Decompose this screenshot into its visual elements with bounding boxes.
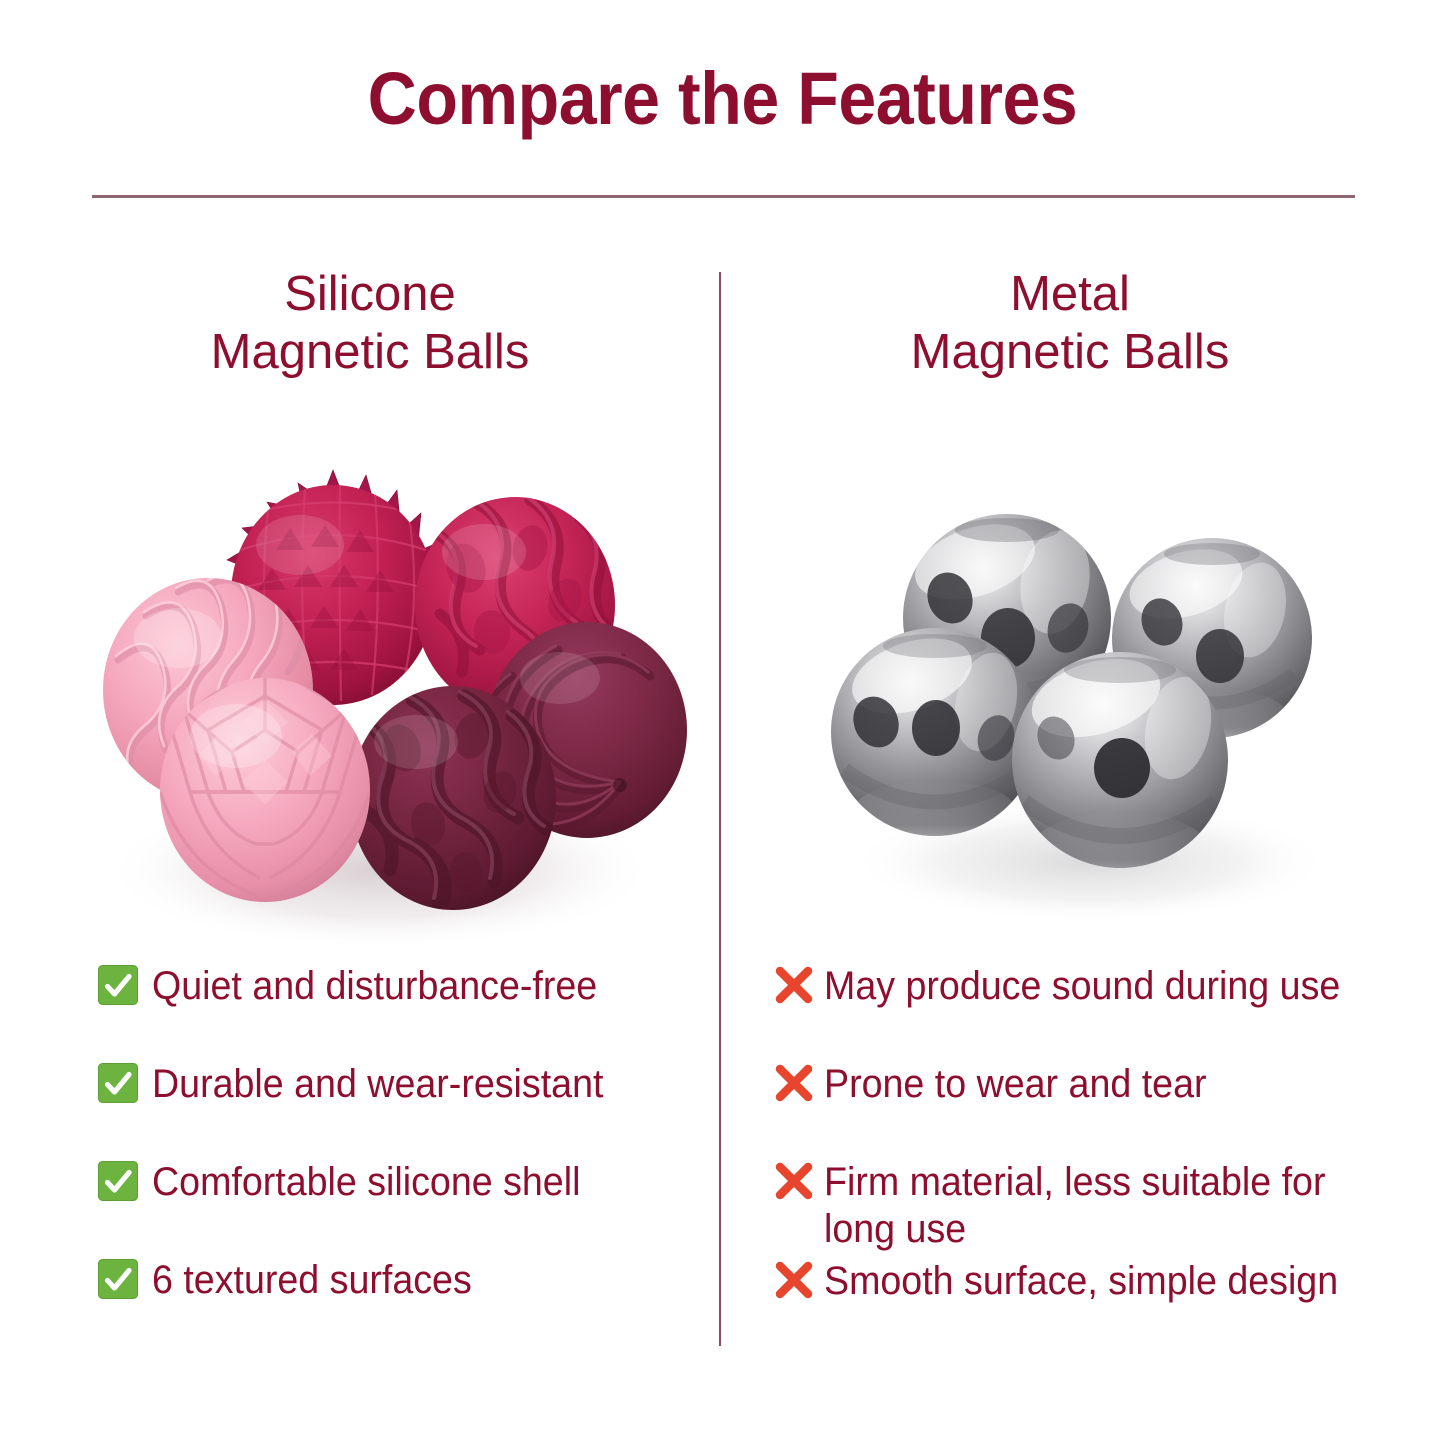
feature-label: May produce sound during use bbox=[824, 962, 1340, 1010]
check-icon bbox=[98, 1259, 138, 1299]
metal-magnetic-balls-photo bbox=[800, 470, 1380, 920]
cross-icon bbox=[772, 963, 816, 1007]
feature-item: Prone to wear and tear bbox=[772, 1060, 1412, 1108]
feature-item: 6 textured surfaces bbox=[98, 1256, 708, 1304]
page-title: Compare the Features bbox=[58, 56, 1387, 142]
column-header-silicone: Silicone Magnetic Balls bbox=[60, 265, 680, 381]
header-divider-rule bbox=[92, 195, 1355, 198]
cross-icon bbox=[772, 1061, 816, 1105]
column-header-silicone-line2: Magnetic Balls bbox=[60, 323, 680, 381]
cross-icon bbox=[772, 1159, 816, 1203]
silicone-magnetic-balls-photo bbox=[60, 400, 720, 960]
check-icon bbox=[98, 965, 138, 1005]
feature-item: Quiet and disturbance-free bbox=[98, 962, 708, 1010]
column-header-metal-line1: Metal bbox=[760, 265, 1380, 323]
feature-label: Quiet and disturbance-free bbox=[152, 962, 597, 1010]
feature-label: Durable and wear-resistant bbox=[152, 1060, 603, 1108]
metal-balls-illustration bbox=[800, 470, 1380, 920]
column-header-metal: Metal Magnetic Balls bbox=[760, 265, 1380, 381]
cross-icon bbox=[772, 1258, 816, 1302]
feature-label: Prone to wear and tear bbox=[824, 1060, 1207, 1108]
silicone-balls-illustration bbox=[60, 400, 720, 960]
feature-label: Firm material, less suitable for long us… bbox=[824, 1158, 1377, 1253]
feature-item: Smooth surface, simple design bbox=[772, 1257, 1412, 1305]
column-header-metal-line2: Magnetic Balls bbox=[760, 323, 1380, 381]
check-icon bbox=[98, 1161, 138, 1201]
feature-item: May produce sound during use bbox=[772, 962, 1412, 1010]
comparison-infographic: Compare the Features Silicone Magnetic B… bbox=[0, 0, 1445, 1445]
feature-list-silicone: Quiet and disturbance-free Durable and w… bbox=[98, 962, 708, 1354]
feature-list-metal: May produce sound during use Prone to we… bbox=[772, 962, 1412, 1355]
feature-item: Durable and wear-resistant bbox=[98, 1060, 708, 1108]
feature-label: Smooth surface, simple design bbox=[824, 1257, 1338, 1305]
feature-item: Comfortable silicone shell bbox=[98, 1158, 708, 1206]
feature-label: Comfortable silicone shell bbox=[152, 1158, 580, 1206]
feature-item: Firm material, less suitable for long us… bbox=[772, 1158, 1412, 1253]
feature-label: 6 textured surfaces bbox=[152, 1256, 472, 1304]
column-header-silicone-line1: Silicone bbox=[60, 265, 680, 323]
check-icon bbox=[98, 1063, 138, 1103]
maroon-brain-ball bbox=[350, 686, 556, 910]
